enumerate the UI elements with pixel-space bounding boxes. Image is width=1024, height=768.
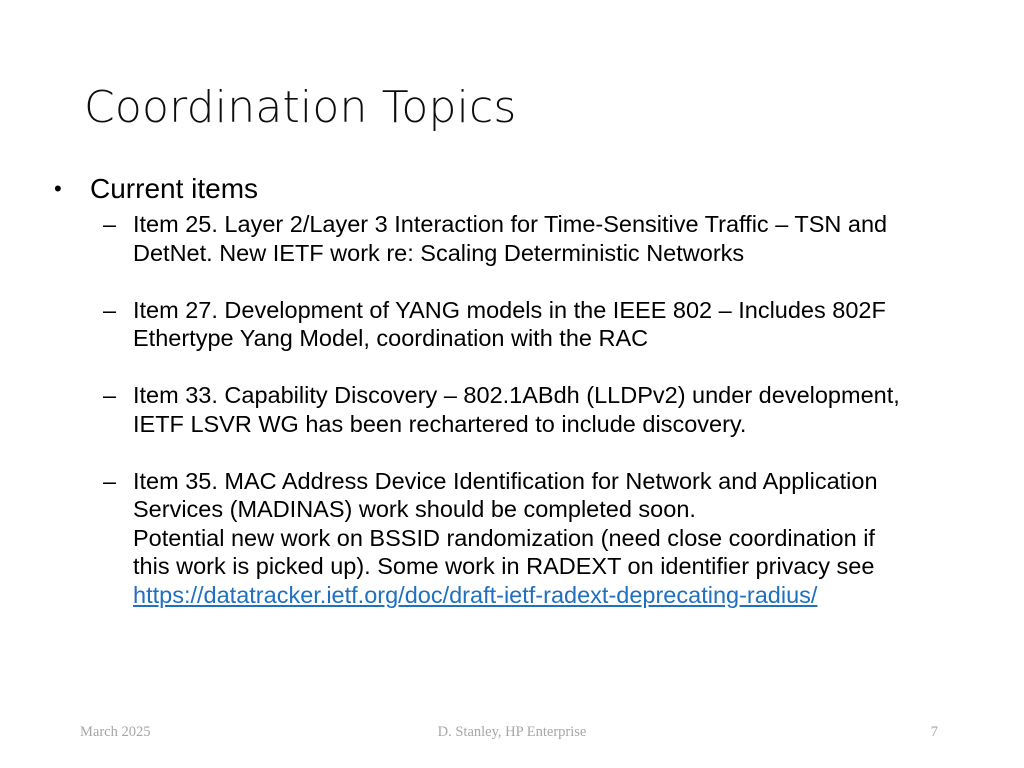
text-line: this work is picked up). Some work in RA… [133, 552, 996, 581]
page-title: Coordination Topics [84, 80, 944, 136]
list-item-text: Item 25. Layer 2/Layer 3 Interaction for… [133, 210, 996, 267]
text-line: Item 33. Capability Discovery – 802.1ABd… [133, 381, 996, 410]
slide-body: • Current items – Item 25. Layer 2/Layer… [46, 170, 996, 609]
text-line: https://datatracker.ietf.org/doc/draft-i… [133, 581, 996, 610]
text-line: Ethertype Yang Model, coordination with … [133, 324, 996, 353]
sub-item-list: – Item 25. Layer 2/Layer 3 Interaction f… [46, 210, 996, 609]
text-line: Item 27. Development of YANG models in t… [133, 296, 996, 325]
text-line: Potential new work on BSSID randomizatio… [133, 524, 996, 553]
dash-marker-icon: – [103, 296, 116, 325]
dash-marker-icon: – [103, 381, 116, 410]
list-item-text: Item 27. Development of YANG models in t… [133, 296, 996, 353]
bullet-dot-icon: • [54, 170, 62, 208]
dash-marker-icon: – [103, 210, 116, 239]
slide-footer: March 2025 D. Stanley, HP Enterprise 7 [0, 722, 1024, 746]
list-item-text: Item 35. MAC Address Device Identificati… [133, 467, 996, 610]
bullet-item-current-items: • Current items [46, 170, 996, 208]
bullet-label: Current items [90, 170, 996, 208]
slide-canvas: Coordination Topics • Current items – It… [0, 0, 1024, 768]
text-line: Item 25. Layer 2/Layer 3 Interaction for… [133, 210, 996, 239]
datatracker-link[interactable]: https://datatracker.ietf.org/doc/draft-i… [133, 582, 817, 608]
list-item-33: – Item 33. Capability Discovery – 802.1A… [46, 381, 996, 438]
list-item-text: Item 33. Capability Discovery – 802.1ABd… [133, 381, 996, 438]
text-line: Item 35. MAC Address Device Identificati… [133, 467, 996, 496]
list-item-35: – Item 35. MAC Address Device Identifica… [46, 467, 996, 610]
text-line: IETF LSVR WG has been rechartered to inc… [133, 410, 996, 439]
text-line: DetNet. New IETF work re: Scaling Determ… [133, 239, 996, 268]
footer-page-number: 7 [0, 722, 938, 742]
text-line: Services (MADINAS) work should be comple… [133, 495, 996, 524]
list-item-27: – Item 27. Development of YANG models in… [46, 296, 996, 353]
dash-marker-icon: – [103, 467, 116, 496]
list-item-25: – Item 25. Layer 2/Layer 3 Interaction f… [46, 210, 996, 267]
